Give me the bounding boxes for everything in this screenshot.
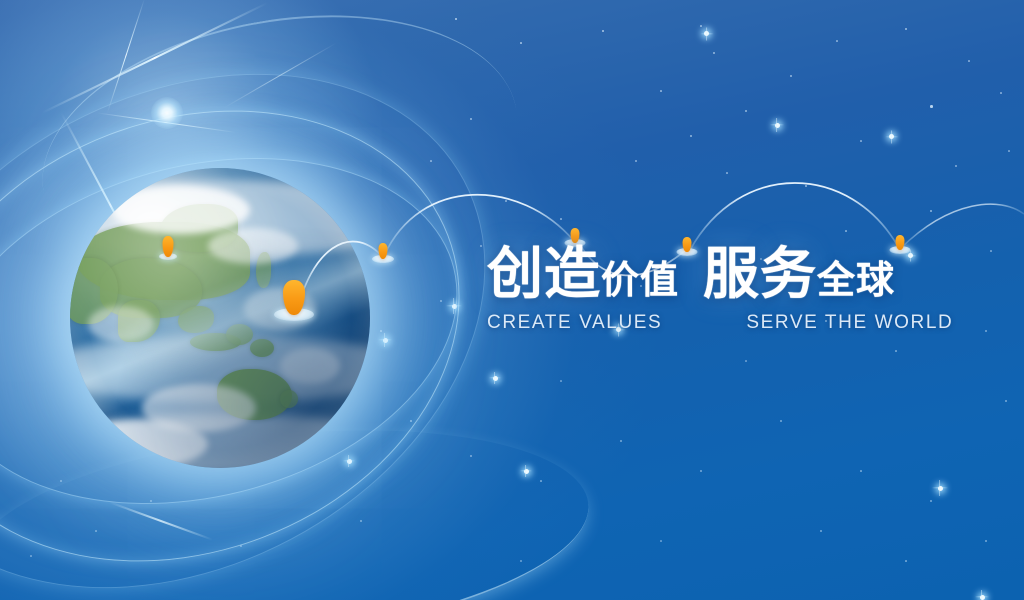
earth-globe-icon: [70, 168, 370, 468]
headline-phrase2-sub: 全球: [817, 258, 895, 302]
headline-block: 创造价值服务全球 CREATE VALUESSERVE THE WORLD: [487, 247, 957, 334]
headline-phrase2-main: 服务: [703, 242, 817, 307]
banner-canvas: 创造价值服务全球 CREATE VALUESSERVE THE WORLD: [0, 0, 1024, 600]
route-arc-4: [690, 183, 899, 250]
route-arc-tail: [901, 204, 1024, 248]
marker-globe-east-asia[interactable]: [159, 236, 177, 260]
headline-english-line: CREATE VALUESSERVE THE WORLD: [487, 312, 957, 334]
marker-route-1[interactable]: [372, 243, 394, 263]
headline-chinese-line: 创造价值服务全球: [487, 247, 957, 303]
headline-phrase1-main: 创造: [487, 242, 601, 307]
subtitle-create-values: CREATE VALUES: [487, 312, 662, 333]
headline-phrase1-sub: 价值: [601, 258, 679, 302]
marker-globe-oceania[interactable]: [274, 281, 314, 321]
subtitle-serve-the-world: SERVE THE WORLD: [746, 312, 953, 334]
